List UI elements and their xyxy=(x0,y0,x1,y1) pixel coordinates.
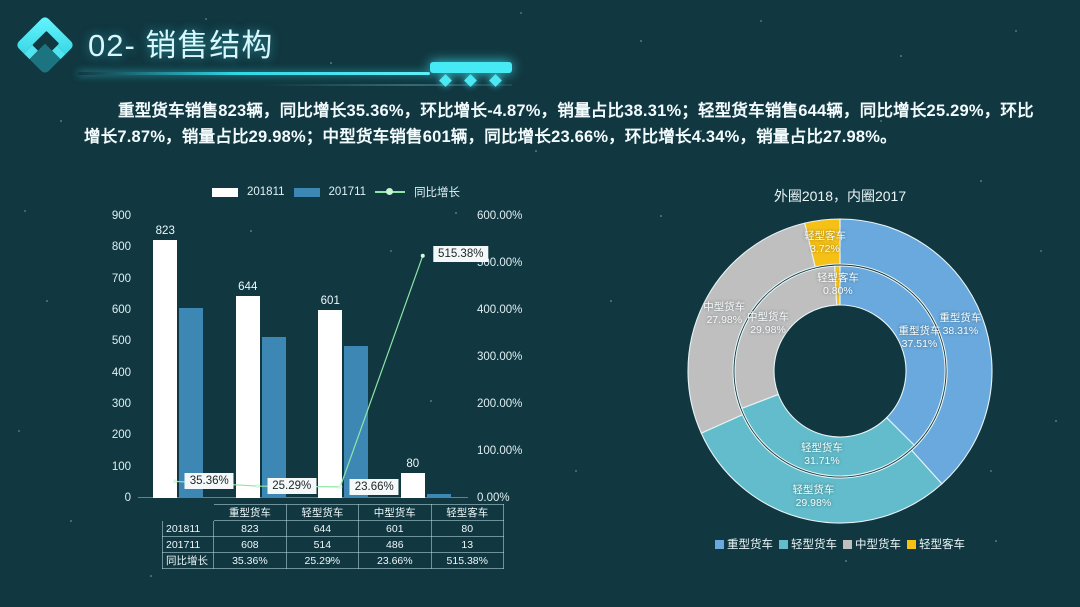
bar-group: 823 xyxy=(138,216,221,498)
bar-201811 xyxy=(153,240,177,498)
star-dot xyxy=(575,470,577,472)
legend-label-growth: 同比增长 xyxy=(414,184,460,200)
donut-segment-value: 31.71% xyxy=(801,455,843,468)
y-axis-left-tick: 700 xyxy=(112,273,131,285)
donut-chart-legend: 重型货车轻型货车中型货车轻型客车 xyxy=(620,536,1060,552)
bar-value-label: 80 xyxy=(406,458,419,470)
star-dot xyxy=(18,430,20,432)
table-column-header: 轻型客车 xyxy=(431,505,503,521)
donut-segment-name: 重型货车 xyxy=(939,312,981,325)
title-underline-secondary xyxy=(262,84,512,86)
legend-line-growth xyxy=(375,191,405,193)
y-axis-right-tick: 300.00% xyxy=(477,351,522,363)
bar-value-label: 644 xyxy=(238,281,257,293)
data-table: 重型货车轻型货车中型货车轻型客车201811823644601802017116… xyxy=(162,504,504,569)
table-cell: 25.29% xyxy=(286,553,358,569)
donut-legend-label: 轻型货车 xyxy=(791,536,837,552)
donut-segment-value: 27.98% xyxy=(703,314,745,327)
y-axis-right-tick: 0.00% xyxy=(477,492,510,504)
donut-segment-label: 轻型货车29.98% xyxy=(792,484,834,510)
donut-chart-rings: 重型货车38.31%轻型货车29.98%中型货车27.98%轻型客车3.72%重… xyxy=(685,216,995,526)
y-axis-left-tick: 100 xyxy=(112,461,131,473)
bar-value-label: 823 xyxy=(156,225,175,237)
legend-label-201711: 201711 xyxy=(329,186,367,198)
star-dot xyxy=(150,575,152,577)
y-axis-left-tick: 300 xyxy=(112,398,131,410)
star-dot xyxy=(70,520,72,522)
table-cell: 486 xyxy=(359,537,431,553)
donut-legend-label: 轻型客车 xyxy=(919,536,965,552)
donut-legend-item[interactable]: 中型货车 xyxy=(843,536,901,552)
donut-segment-label: 重型货车37.51% xyxy=(898,325,940,351)
title-underline xyxy=(78,72,430,75)
y-axis-left-tick: 400 xyxy=(112,367,131,379)
y-axis-left-tick: 0 xyxy=(125,492,131,504)
donut-segment-label: 轻型客车3.72% xyxy=(804,230,846,256)
legend-label-201811: 201811 xyxy=(247,186,285,198)
donut-segment-name: 轻型客车 xyxy=(817,272,859,285)
star-dot xyxy=(60,120,62,122)
summary-paragraph: 重型货车销售823辆，同比增长35.36%，环比增长-4.87%，销量占比38.… xyxy=(84,98,1044,150)
table-cell: 601 xyxy=(359,521,431,537)
y-axis-left-tick: 900 xyxy=(112,210,131,222)
growth-value-callout: 35.36% xyxy=(185,473,234,489)
donut-segment-label: 轻型货车31.71% xyxy=(801,442,843,468)
donut-segment-value: 29.98% xyxy=(747,324,789,337)
donut-legend-swatch xyxy=(779,540,788,549)
star-dot xyxy=(535,150,537,152)
donut-segment-name: 轻型货车 xyxy=(792,484,834,497)
legend-swatch-201711 xyxy=(294,188,320,197)
bar-value-label: 601 xyxy=(321,295,340,307)
donut-chart: 外圈2018，内圈2017 重型货车38.31%轻型货车29.98%中型货车27… xyxy=(620,180,1060,580)
donut-segment-name: 轻型客车 xyxy=(804,230,846,243)
page-title: 02- 销售结构 xyxy=(88,20,273,65)
donut-segment-value: 3.72% xyxy=(804,243,846,256)
bar-chart-legend: 201811 201711 同比增长 xyxy=(212,184,460,200)
table-row-header: 同比增长 xyxy=(163,553,214,569)
donut-svg xyxy=(685,216,995,526)
table-header-row: 重型货车轻型货车中型货车轻型客车 xyxy=(163,505,504,521)
bar-201811 xyxy=(236,296,260,498)
table-cell: 13 xyxy=(431,537,503,553)
donut-segment-value: 38.31% xyxy=(939,325,981,338)
y-axis-left-tick: 600 xyxy=(112,304,131,316)
table-row-header: 201711 xyxy=(163,537,214,553)
bar-201711 xyxy=(179,308,203,499)
bar-chart-plot-area: 9008007006005004003002001000600.00%500.0… xyxy=(138,216,468,498)
diamond-logo-icon xyxy=(14,14,76,76)
table-cell: 80 xyxy=(431,521,503,537)
table-column-header: 轻型货车 xyxy=(286,505,358,521)
y-axis-left-tick: 800 xyxy=(112,241,131,253)
table-row: 20171160851448613 xyxy=(163,537,504,553)
bar-201711 xyxy=(344,346,368,498)
donut-segment-name: 重型货车 xyxy=(898,325,940,338)
donut-segment-name: 中型货车 xyxy=(703,301,745,314)
bar-group: 601 xyxy=(303,216,386,498)
donut-segment-value: 37.51% xyxy=(898,338,940,351)
donut-segment-value: 0.80% xyxy=(817,285,859,298)
donut-segment-label: 中型货车27.98% xyxy=(703,301,745,327)
table-column-header: 重型货车 xyxy=(214,505,286,521)
accent-bar xyxy=(430,62,512,73)
donut-legend-swatch xyxy=(907,540,916,549)
slide-header: 02- 销售结构 xyxy=(0,0,1080,96)
donut-legend-swatch xyxy=(715,540,724,549)
star-dot xyxy=(24,210,26,212)
donut-segment-name: 中型货车 xyxy=(747,311,789,324)
donut-legend-label: 重型货车 xyxy=(727,536,773,552)
table-row: 20181182364460180 xyxy=(163,521,504,537)
star-dot xyxy=(610,300,612,302)
table-column-header: 中型货车 xyxy=(359,505,431,521)
donut-chart-title: 外圈2018，内圈2017 xyxy=(620,186,1060,206)
y-axis-left-tick: 500 xyxy=(112,335,131,347)
bar-201811 xyxy=(318,310,342,498)
donut-legend-swatch xyxy=(843,540,852,549)
growth-value-callout: 23.66% xyxy=(350,479,399,495)
y-axis-right-tick: 400.00% xyxy=(477,304,522,316)
bar-group: 644 xyxy=(221,216,304,498)
table-cell: 23.66% xyxy=(359,553,431,569)
donut-legend-item[interactable]: 轻型客车 xyxy=(907,536,965,552)
growth-value-callout: 515.38% xyxy=(433,246,488,262)
y-axis-right-tick: 600.00% xyxy=(477,210,522,222)
table-cell: 644 xyxy=(286,521,358,537)
growth-value-callout: 25.29% xyxy=(267,478,316,494)
donut-segment-label: 轻型客车0.80% xyxy=(817,272,859,298)
donut-segment-value: 29.98% xyxy=(792,497,834,510)
table-cell: 35.36% xyxy=(214,553,286,569)
star-dot xyxy=(46,300,48,302)
donut-segment-name: 轻型货车 xyxy=(801,442,843,455)
table-cell: 608 xyxy=(214,537,286,553)
y-axis-left-tick: 200 xyxy=(112,429,131,441)
donut-legend-label: 中型货车 xyxy=(855,536,901,552)
legend-swatch-201811 xyxy=(212,188,238,197)
table-row-header: 201811 xyxy=(163,521,214,537)
table-corner-cell xyxy=(163,505,214,521)
table-row: 同比增长35.36%25.29%23.66%515.38% xyxy=(163,553,504,569)
y-axis-right-tick: 200.00% xyxy=(477,398,522,410)
donut-segment-label: 中型货车29.98% xyxy=(747,311,789,337)
donut-legend-item[interactable]: 轻型货车 xyxy=(779,536,837,552)
bar-201811 xyxy=(401,473,425,498)
table-cell: 823 xyxy=(214,521,286,537)
bar-201711 xyxy=(427,494,451,498)
y-axis-right-tick: 100.00% xyxy=(477,445,522,457)
table-cell: 514 xyxy=(286,537,358,553)
donut-segment-label: 重型货车38.31% xyxy=(939,312,981,338)
donut-legend-item[interactable]: 重型货车 xyxy=(715,536,773,552)
table-cell: 515.38% xyxy=(431,553,503,569)
bar-201711 xyxy=(262,337,286,498)
